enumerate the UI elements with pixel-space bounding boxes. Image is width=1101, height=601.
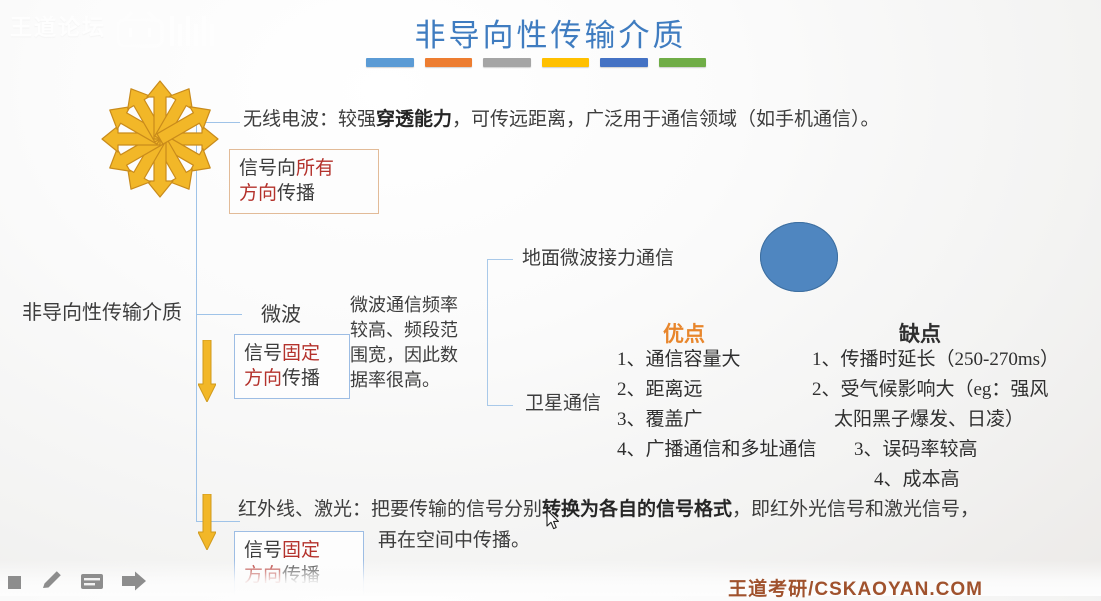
radio-desc-bold: 穿透能力	[376, 109, 452, 130]
connector-root-horizontal	[196, 314, 242, 315]
cons-item-4: 4、成本高	[812, 465, 1059, 495]
connector-satellite	[487, 405, 513, 406]
mw-desc-line-3: 围宽，因此数	[350, 343, 485, 368]
connector-ground-relay	[487, 259, 513, 260]
ruler-bar-4	[542, 58, 590, 67]
pros-item-3: 3、覆盖广	[617, 405, 817, 435]
next-arrow-icon[interactable]	[121, 571, 147, 591]
pros-title: 优点	[663, 318, 705, 348]
radio-label: 无线电波：	[243, 109, 338, 130]
microwave-child-ground-relay: 地面微波接力通信	[522, 245, 674, 272]
infrared-label: 红外线、激光：	[238, 499, 371, 520]
pencil-icon[interactable]	[41, 570, 63, 592]
note-ir-line1-a: 信号	[244, 540, 282, 561]
note-mw-line1-a: 信号	[244, 343, 282, 364]
mw-desc-line-2: 较高、频段范	[350, 318, 485, 343]
cons-item-3: 3、误码率较高	[812, 435, 1059, 465]
down-arrow-microwave-icon	[198, 340, 216, 402]
pros-list: 1、通信容量大 2、距离远 3、覆盖广 4、广播通信和多址通信	[617, 345, 817, 465]
ruler-bar-6	[659, 58, 707, 67]
mouse-cursor	[546, 509, 560, 536]
pros-item-2: 2、距离远	[617, 375, 817, 405]
footer-text: 王道考研/CSKAOYAN.COM	[728, 574, 983, 601]
ruler-bar-3	[483, 58, 531, 67]
mw-desc-line-1: 微波通信频率	[350, 293, 485, 318]
cons-item-2-cont: 太阳黑子爆发、日凌）	[812, 405, 1059, 435]
cons-title: 缺点	[899, 318, 941, 348]
root-node-label: 非导向性传输介质	[22, 300, 182, 327]
note-radio-line2-a: 方向	[239, 183, 277, 204]
ruler-bar-2	[425, 58, 473, 67]
cons-item-2: 2、受气候影响大（eg：强风	[812, 375, 1059, 405]
microwave-label: 微波	[261, 302, 301, 329]
down-arrow-infrared-icon	[198, 494, 216, 550]
satellite-globe-shape	[760, 222, 838, 292]
ruler-bar-5	[600, 58, 648, 67]
note-radio-direction: 信号向所有 方向传播	[229, 149, 379, 214]
note-radio-line2-b: 传播	[277, 183, 315, 204]
note-radio-line1-a: 信号向	[239, 158, 296, 179]
note-microwave-direction: 信号固定 方向传播	[234, 334, 350, 399]
ruler-bar-1	[366, 58, 414, 67]
note-radio-line1-b: 所有	[296, 158, 334, 179]
title-color-ruler	[366, 58, 706, 67]
pros-item-1: 1、通信容量大	[617, 345, 817, 375]
radio-desc-pre: 较强	[338, 109, 376, 130]
mw-desc-line-4: 据率很高。	[350, 368, 485, 393]
radio-desc-post: ，可传远距离，广泛用于通信领域（如手机通信）。	[452, 109, 880, 130]
note-mw-line2-a: 方向	[244, 368, 282, 389]
infrared-desc-pre: 把要传输的信号分别	[371, 499, 542, 520]
microwave-description: 微波通信频率 较高、频段范 围宽，因此数 据率很高。	[350, 293, 485, 393]
connector-microwave-spine	[487, 259, 488, 405]
radio-branch-text: 无线电波：较强穿透能力，可传远距离，广泛用于通信领域（如手机通信）。	[243, 106, 880, 133]
infrared-desc-bold: 转换为各自的信号格式	[542, 499, 732, 520]
presentation-toolbar[interactable]	[0, 566, 171, 596]
cons-item-1: 1、传播时延长（250-270ms）	[812, 345, 1059, 375]
page-title: 非导向性传输介质	[0, 10, 1101, 55]
stop-icon[interactable]	[6, 572, 24, 590]
infrared-desc-post: ，即红外光信号和激光信号，	[732, 499, 979, 520]
cons-list: 1、传播时延长（250-270ms） 2、受气候影响大（eg：强风 太阳黑子爆发…	[812, 345, 1059, 495]
note-mw-line1-b: 固定	[282, 343, 320, 364]
microwave-child-satellite: 卫星通信	[525, 390, 601, 417]
note-ir-line1-b: 固定	[282, 540, 320, 561]
note-mw-line2-b: 传播	[282, 368, 320, 389]
omnidirectional-arrows-icon	[96, 78, 224, 200]
subtitle-icon[interactable]	[80, 571, 104, 591]
pros-item-4: 4、广播通信和多址通信	[617, 435, 817, 465]
